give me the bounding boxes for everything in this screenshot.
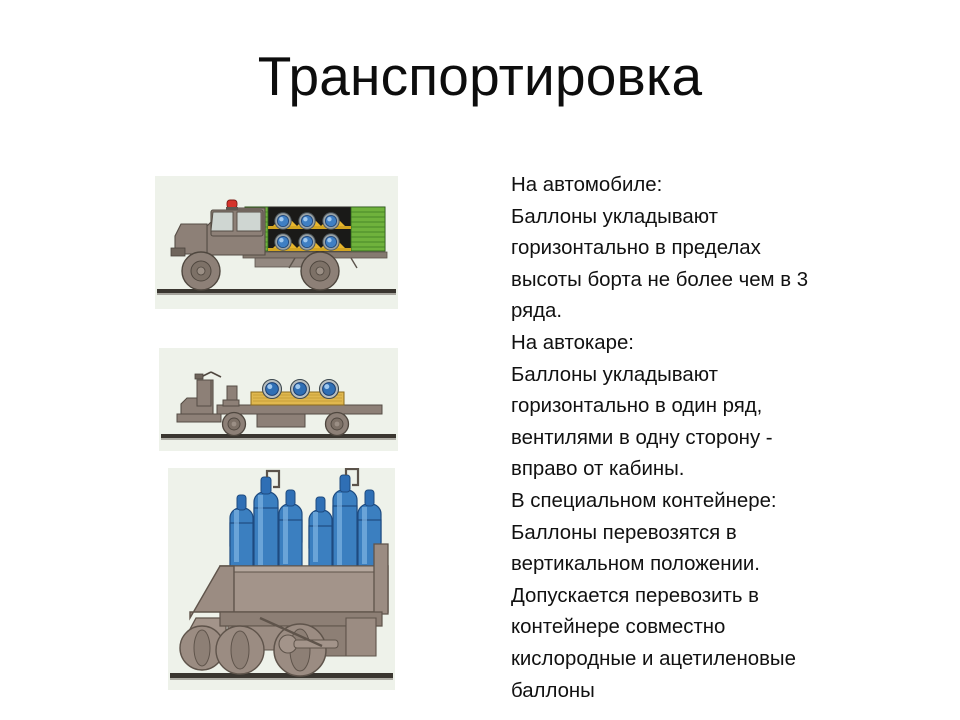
text-line: Баллоны укладывают [511,360,881,392]
truck-illustration [155,176,398,309]
text-line: На автокаре: [511,328,881,360]
ground-line [170,673,393,678]
container-illustration [168,468,395,690]
description-text-block: На автомобиле: Баллоны укладывают горизо… [511,170,881,707]
text-line: Баллоны укладывают [511,202,881,234]
text-line: кислородные и ацетиленовые [511,644,881,676]
text-line: В специальном контейнере: [511,486,881,518]
cylinder-ends-row-1 [275,213,339,229]
ground-line [157,289,396,293]
text-line: вентилями в одну сторону - [511,423,881,455]
text-line: контейнере совместно [511,612,881,644]
cylinder-ends-row-2 [275,234,339,250]
text-line: Баллоны перевозятся в [511,518,881,550]
text-line: высоты борта не более чем в 3 [511,265,881,297]
ground-line [161,434,396,438]
cart-illustration [159,348,398,451]
text-line: баллоны [511,676,881,708]
text-line: горизонтально в пределах [511,233,881,265]
text-line: вертикальном положении. [511,549,881,581]
text-line: Допускается перевозить в [511,581,881,613]
text-line: На автомобиле: [511,170,881,202]
text-line: вправо от кабины. [511,454,881,486]
cylinder-ends-row [263,380,339,399]
figure-cart-single-row-cylinders [159,348,398,451]
figure-truck-horizontal-cylinders [155,176,398,309]
slide-root: Транспортировка [0,0,960,720]
figure-container-vertical-cylinders [168,468,395,690]
text-line: горизонтально в один ряд, [511,391,881,423]
beacon-light [226,200,238,210]
page-title: Транспортировка [0,48,960,106]
green-side-panel-right [351,207,385,251]
text-line: ряда. [511,296,881,328]
